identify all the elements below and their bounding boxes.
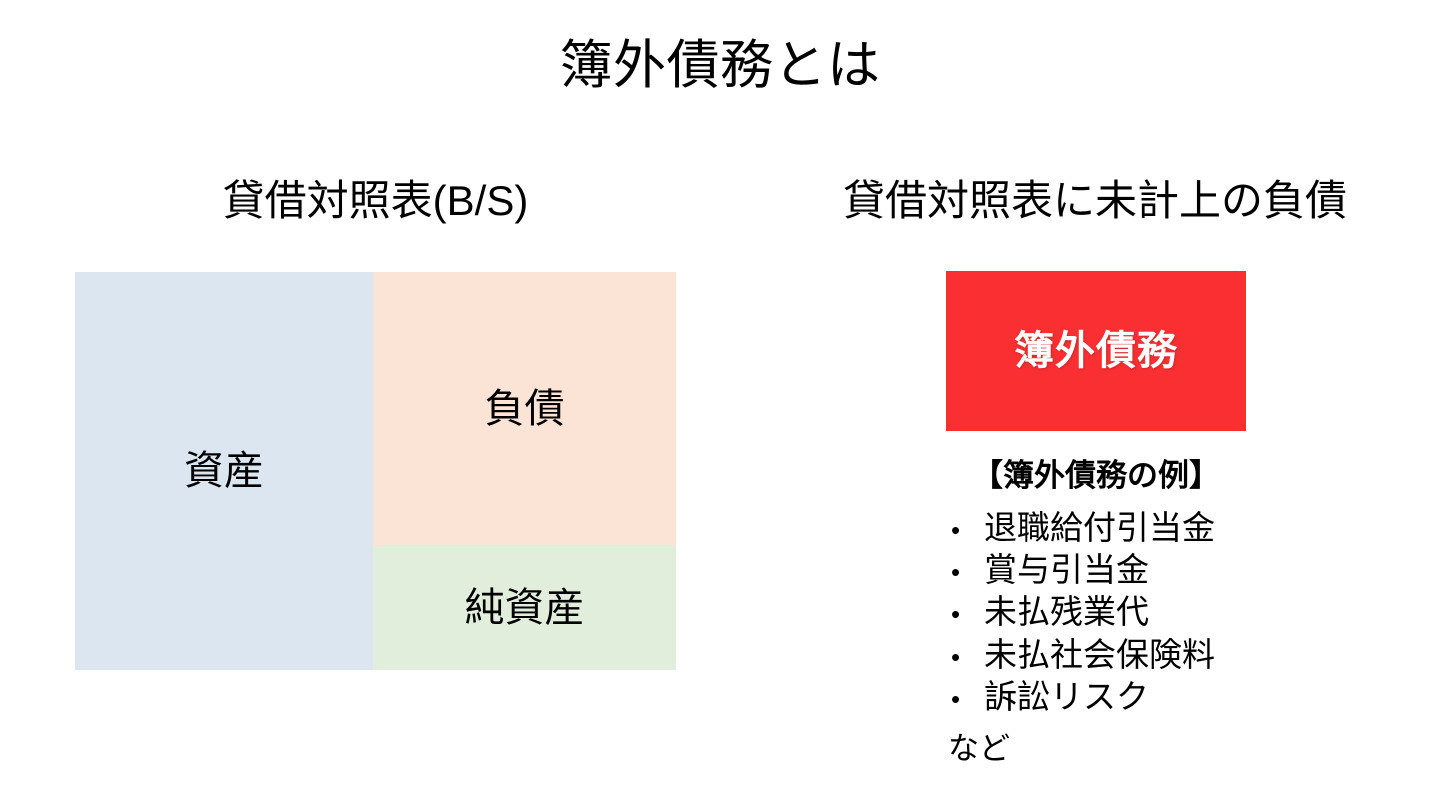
slide-canvas: 簿外債務とは 貸借対照表(B/S) 貸借対照表に未計上の負債 資産 負債 純資産… (0, 0, 1440, 810)
off-balance-callout-box: 簿外債務 (946, 271, 1246, 431)
balance-sheet-heading: 貸借対照表(B/S) (75, 176, 676, 226)
list-item: • 賞与引当金 (946, 549, 1416, 591)
bullet-icon: • (946, 683, 984, 716)
off-balance-callout-label: 簿外債務 (1014, 327, 1178, 375)
balance-sheet-right-column: 負債 純資産 (373, 272, 676, 670)
list-item-label: 未払残業代 (984, 591, 1149, 633)
net-assets-label: 純資産 (465, 584, 585, 632)
list-item-label: 退職給付引当金 (984, 507, 1215, 549)
list-item: • 未払社会保険料 (946, 634, 1416, 676)
list-item: • 未払残業代 (946, 591, 1416, 633)
examples-block: 【簿外債務の例】 • 退職給付引当金 • 賞与引当金 • 未払残業代 • 未払社… (946, 455, 1416, 769)
balance-sheet-diagram: 資産 負債 純資産 (75, 272, 676, 670)
bullet-icon: • (946, 556, 984, 589)
liabilities-label: 負債 (485, 385, 565, 433)
bullet-icon: • (946, 641, 984, 674)
list-item: • 訴訟リスク (946, 676, 1416, 718)
balance-sheet-liabilities-cell: 負債 (373, 272, 676, 546)
examples-title: 【簿外債務の例】 (946, 455, 1246, 497)
bullet-icon: • (946, 598, 984, 631)
balance-sheet-net-assets-cell: 純資産 (373, 546, 676, 670)
list-item: • 退職給付引当金 (946, 507, 1416, 549)
page-title: 簿外債務とは (0, 36, 1440, 97)
balance-sheet-assets-cell: 資産 (75, 272, 373, 670)
bullet-icon: • (946, 514, 984, 547)
assets-label: 資産 (184, 447, 264, 495)
list-item-label: 訴訟リスク (984, 676, 1149, 718)
off-balance-heading: 貸借対照表に未計上の負債 (775, 176, 1415, 226)
list-item-label: 賞与引当金 (984, 549, 1149, 591)
examples-footer: など (946, 730, 1416, 769)
list-item-label: 未払社会保険料 (984, 634, 1215, 676)
examples-list: • 退職給付引当金 • 賞与引当金 • 未払残業代 • 未払社会保険料 • 訴訟… (946, 507, 1416, 718)
